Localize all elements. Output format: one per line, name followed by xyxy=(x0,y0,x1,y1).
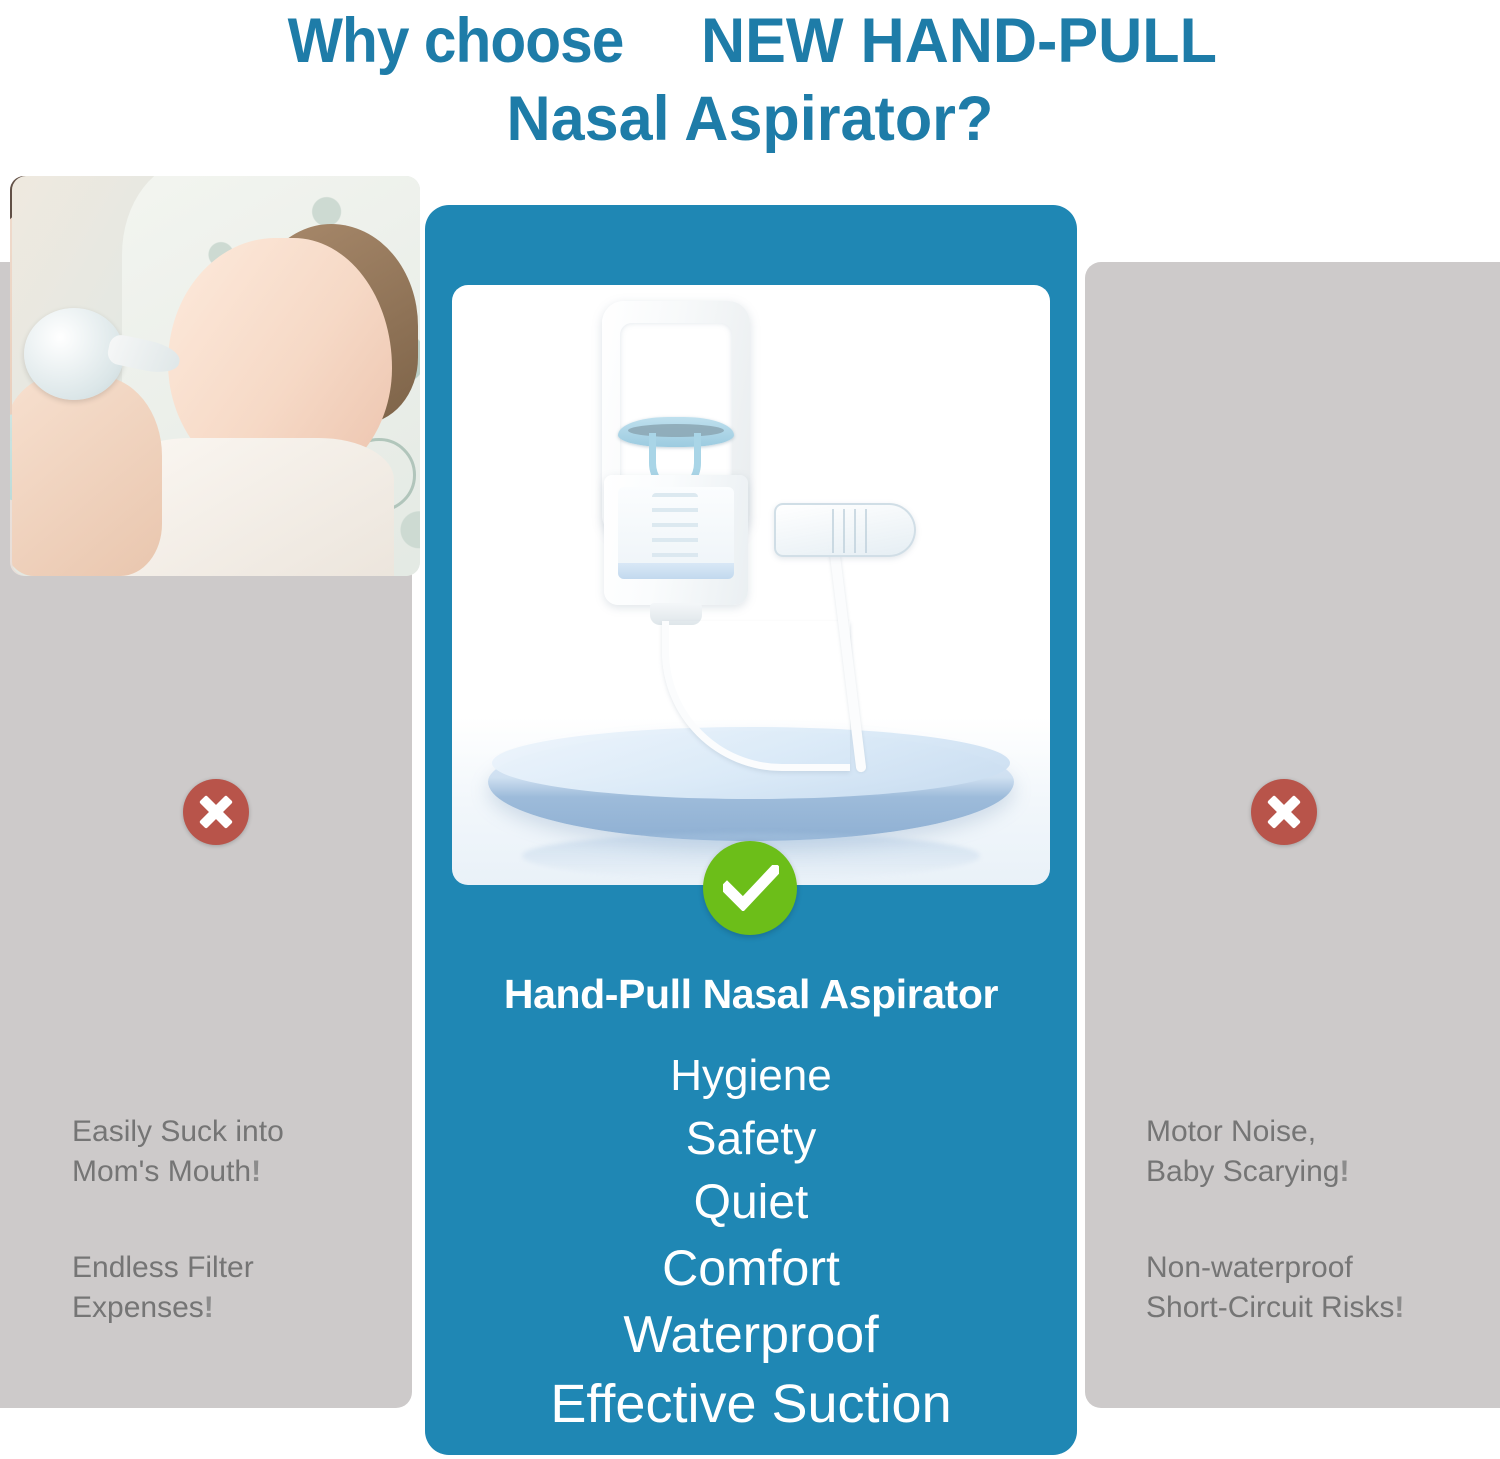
check-icon xyxy=(703,841,797,935)
right-caption-1: Motor Noise, Baby Scarying! xyxy=(1146,1112,1349,1192)
headline-regular-text: Why choose xyxy=(288,2,624,80)
right-caption-2: Non-waterproof Short-Circuit Risks! xyxy=(1146,1248,1404,1328)
left-caption-1: Easily Suck into Mom's Mouth! xyxy=(72,1112,284,1192)
right-caption-1-line-2: Baby Scarying! xyxy=(1146,1152,1349,1192)
left-caption-1-line-1: Easily Suck into xyxy=(72,1112,284,1152)
chamber-inner xyxy=(618,487,734,579)
left-caption-2: Endless Filter Expenses! xyxy=(72,1248,254,1328)
feature-item: Safety xyxy=(425,1107,1077,1170)
exclamation-mark: ! xyxy=(1394,1291,1404,1324)
product-image-stage xyxy=(452,285,1050,885)
right-caption-1-line-1: Motor Noise, xyxy=(1146,1112,1349,1152)
headline-line-2: Nasal Aspirator? xyxy=(0,80,1500,158)
exclamation-mark: ! xyxy=(251,1155,261,1188)
left-caption-2-line-2: Expenses! xyxy=(72,1288,254,1328)
nozzle-grip-rings xyxy=(832,509,872,553)
feature-item: Hygiene xyxy=(425,1045,1077,1107)
exclamation-mark: ! xyxy=(204,1291,214,1324)
page-headline: Why choose NEW HAND-PULL Nasal Aspirator… xyxy=(0,0,1500,180)
parent-hand xyxy=(12,376,162,576)
right-caption-2-line-2: Short-Circuit Risks! xyxy=(1146,1288,1404,1328)
left-caption-1-line-2: Mom's Mouth! xyxy=(72,1152,284,1192)
feature-item: Waterproof xyxy=(425,1301,1077,1369)
product-title: Hand-Pull Nasal Aspirator xyxy=(425,971,1077,1018)
product-feature-list: Hygiene Safety Quiet Comfort Waterproof … xyxy=(425,1045,1077,1439)
cross-icon xyxy=(183,779,249,845)
feature-item: Quiet xyxy=(425,1170,1077,1235)
feature-item: Effective Suction xyxy=(425,1369,1077,1439)
chamber-fluid-line xyxy=(618,563,734,579)
feature-item: Comfort xyxy=(425,1235,1077,1301)
headline-line-1: Why choose NEW HAND-PULL xyxy=(0,2,1500,80)
exclamation-mark: ! xyxy=(1339,1155,1349,1188)
left-caption-2-line-1: Endless Filter xyxy=(72,1248,254,1288)
collection-chamber xyxy=(604,475,748,605)
headline-strong-text: NEW HAND-PULL xyxy=(701,2,1217,80)
right-caption-2-line-1: Non-waterproof xyxy=(1146,1248,1404,1288)
cross-icon xyxy=(1251,779,1317,845)
nasal-nozzle xyxy=(774,503,916,557)
headline-line-2-text: Nasal Aspirator? xyxy=(507,80,994,158)
right-panel-photo xyxy=(12,176,420,576)
